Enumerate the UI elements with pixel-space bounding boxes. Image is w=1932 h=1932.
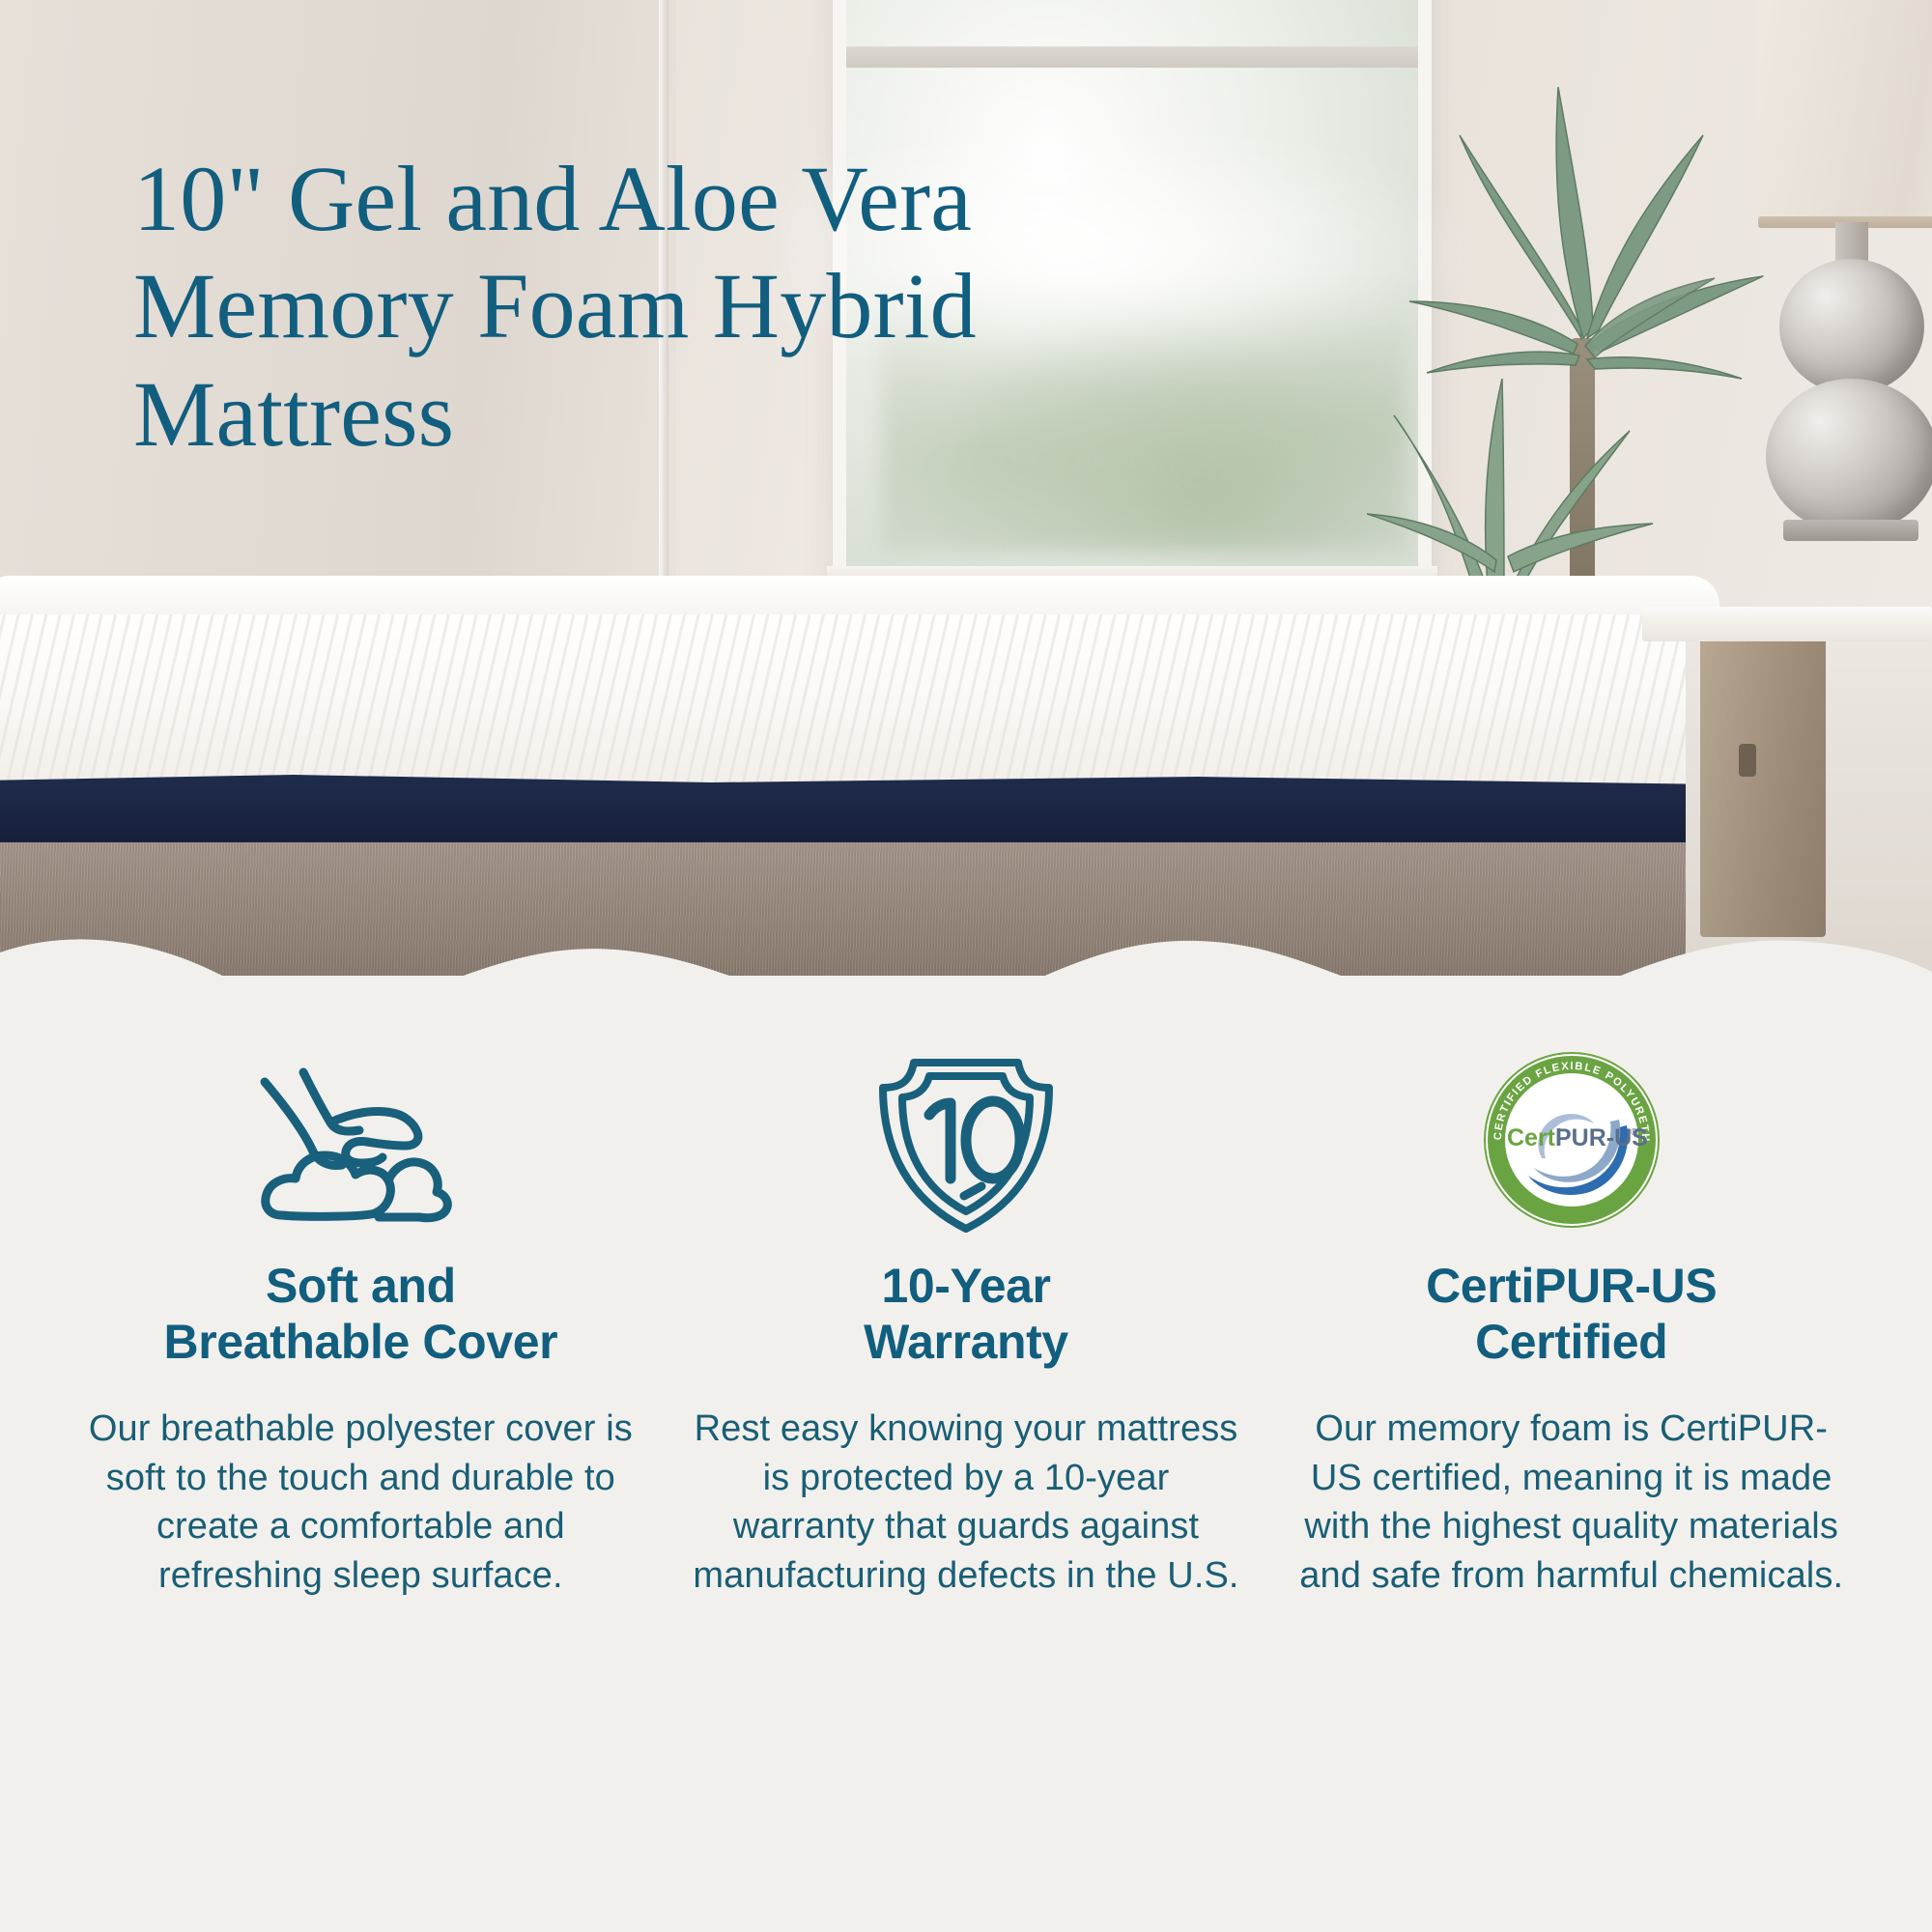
bed-frame-knob <box>1739 744 1756 777</box>
feature-title: CertiPUR-US Certified <box>1426 1258 1717 1370</box>
infographic-canvas: 10" Gel and Aloe Vera Memory Foam Hybrid… <box>0 0 1932 1932</box>
plant-leaves-icon <box>1367 19 1782 618</box>
feature-title-line-2: Breathable Cover <box>164 1315 558 1369</box>
certipur-us-badge-icon: CONTAINS CERTIFIED FLEXIBLE POLYURETHANE… <box>1482 1043 1662 1236</box>
feature-title-line-1: 10-Year <box>881 1259 1050 1313</box>
feature-description: Our memory foam is CertiPUR-US certified… <box>1293 1405 1849 1600</box>
window-sash <box>846 46 1418 68</box>
feature-certipur-us-certified: CONTAINS CERTIFIED FLEXIBLE POLYURETHANE… <box>1268 1043 1874 1600</box>
lamp-body-upper <box>1779 259 1924 394</box>
feature-description: Rest easy knowing your mattress is prote… <box>689 1405 1244 1600</box>
headline-line-3: Mattress <box>133 360 1273 468</box>
hand-on-cloud-icon <box>259 1043 462 1236</box>
feature-description: Our breathable polyester cover is soft t… <box>83 1405 639 1600</box>
lamp-base <box>1783 520 1918 541</box>
headline-line-1: 10" Gel and Aloe Vera <box>133 145 1273 252</box>
feature-title-line-2: Certified <box>1475 1315 1667 1369</box>
page-title: 10" Gel and Aloe Vera Memory Foam Hybrid… <box>133 145 1273 468</box>
nightstand-top <box>1642 607 1932 641</box>
feature-soft-breathable-cover: Soft and Breathable Cover Our breathable… <box>58 1043 664 1600</box>
feature-title-line-1: Soft and <box>266 1259 456 1313</box>
feature-list: Soft and Breathable Cover Our breathable… <box>0 1043 1932 1600</box>
yucca-plant <box>1367 19 1782 618</box>
certipur-wordmark-green: Certi <box>1507 1124 1562 1151</box>
bed-frame-leg <box>1700 618 1826 937</box>
feature-title: Soft and Breathable Cover <box>164 1258 558 1370</box>
feature-title: 10-Year Warranty <box>864 1258 1068 1370</box>
lamp-shade <box>1758 0 1932 222</box>
wave-divider <box>0 898 1932 1034</box>
feature-title-line-2: Warranty <box>864 1315 1068 1369</box>
feature-title-line-1: CertiPUR-US <box>1426 1259 1717 1313</box>
feature-10-year-warranty: 10-Year Warranty Rest easy knowing your … <box>664 1043 1269 1600</box>
headline-line-2: Memory Foam Hybrid <box>133 252 1273 359</box>
certipur-registered-mark: ® <box>1631 1127 1638 1138</box>
lamp-body-lower <box>1766 379 1932 533</box>
shield-10-year-icon <box>869 1043 1063 1236</box>
